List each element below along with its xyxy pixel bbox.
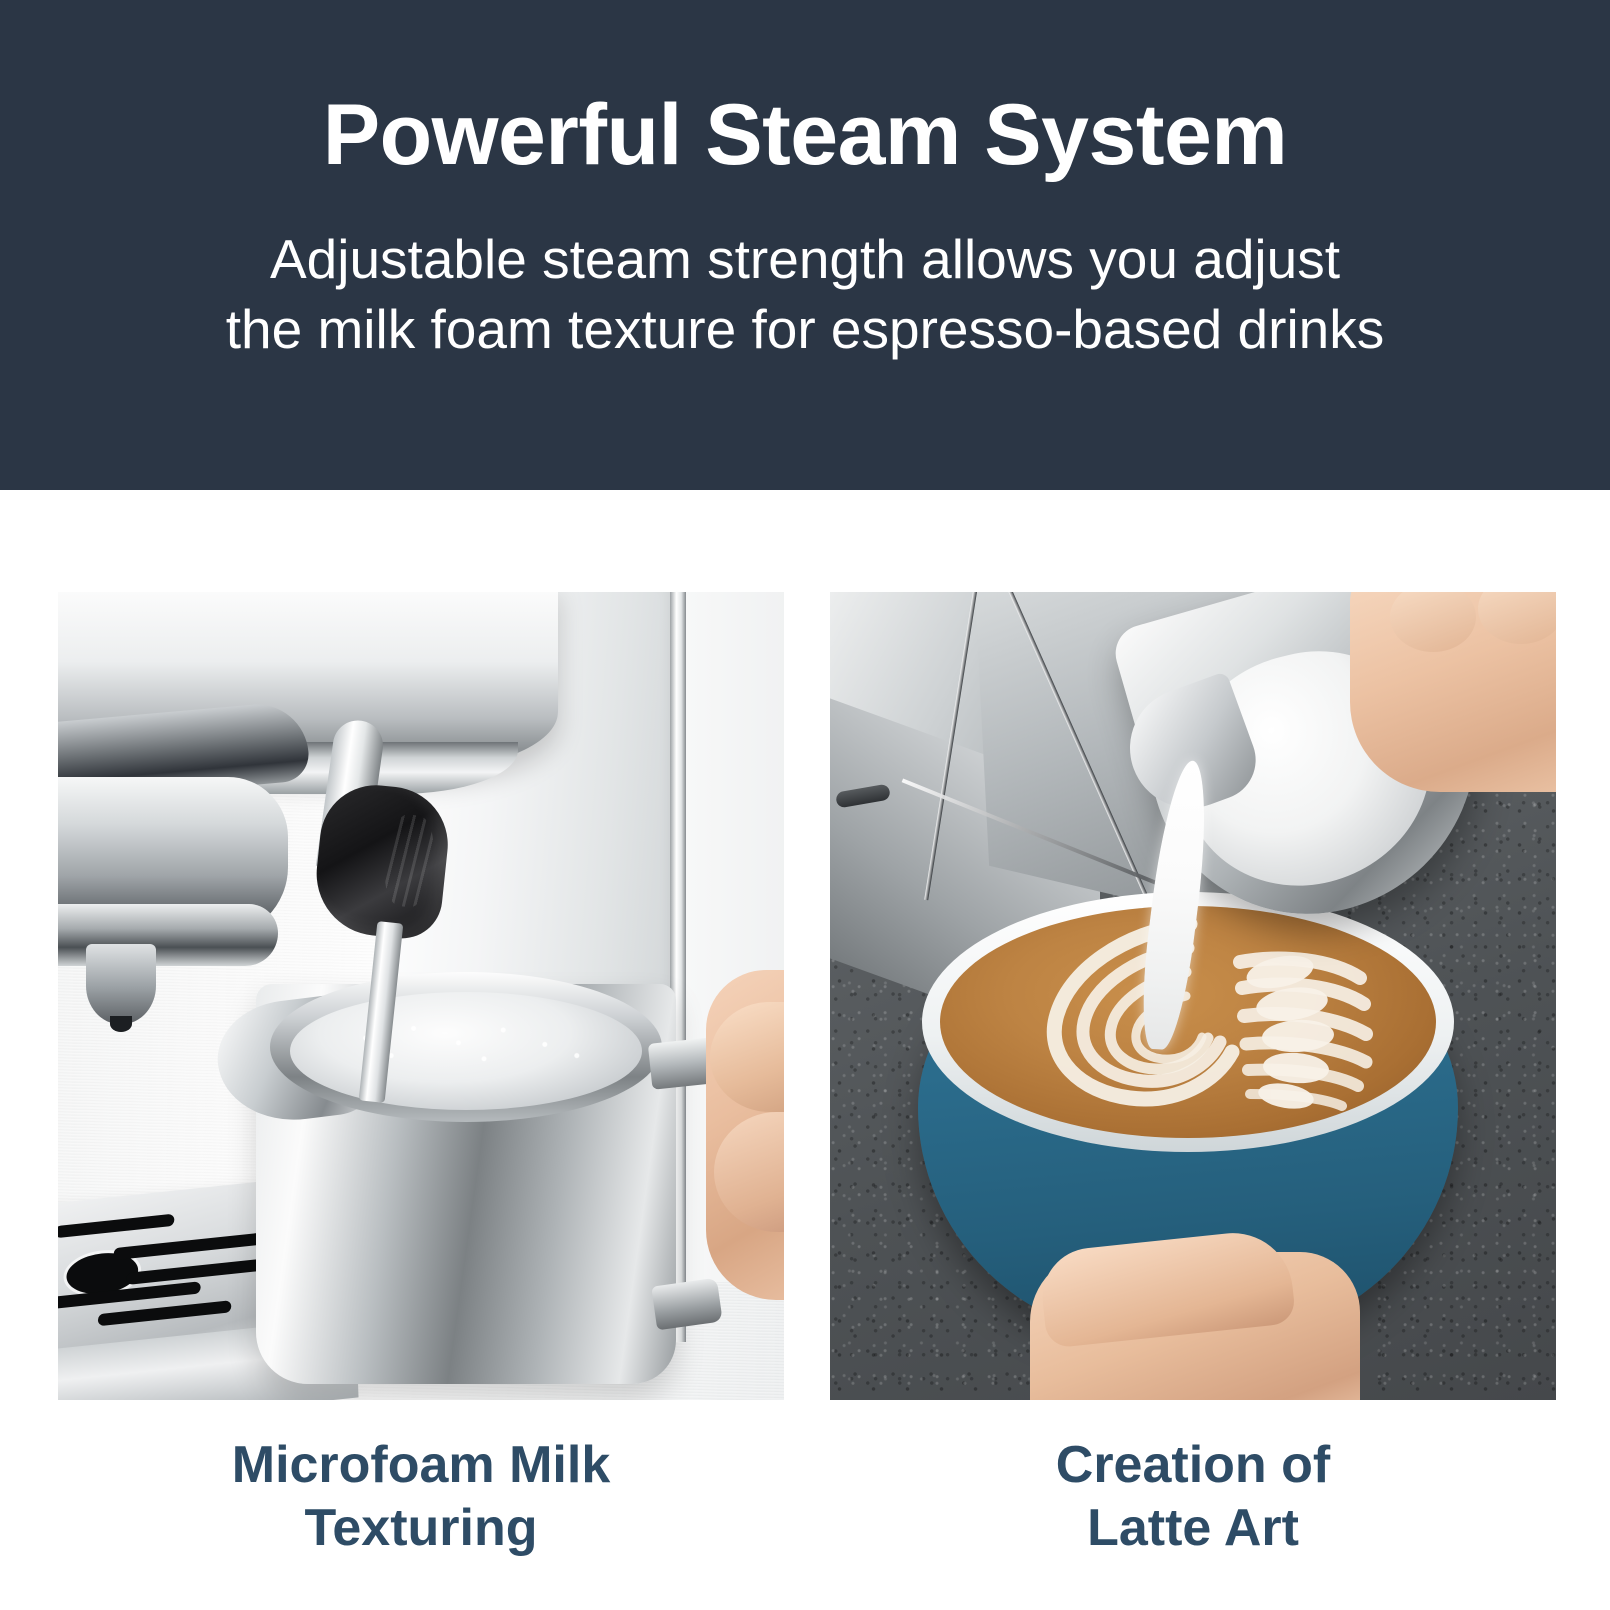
espresso-machine-scene (58, 592, 784, 1400)
caption-line-1: Creation of (830, 1434, 1556, 1497)
caption-line-2: Latte Art (830, 1497, 1556, 1560)
caption-line-2: Texturing (58, 1497, 784, 1560)
latte-art-scene (830, 592, 1556, 1400)
drip-slot (58, 1214, 175, 1239)
latte-art-photo (830, 592, 1556, 1400)
milk-pitcher-handle-lower (651, 1278, 722, 1331)
product-feature-page: Powerful Steam System Adjustable steam s… (0, 0, 1610, 1610)
portafilter-spout (86, 944, 156, 1024)
header-banner: Powerful Steam System Adjustable steam s… (0, 0, 1610, 490)
subtitle-line-2: the milk foam texture for espresso-based… (226, 294, 1385, 364)
drip-slot (98, 1300, 232, 1326)
drip-slot (113, 1233, 263, 1261)
caption-microfoam: Microfoam Milk Texturing (58, 1434, 784, 1561)
subtitle-line-1: Adjustable steam strength allows you adj… (226, 224, 1385, 294)
page-title: Powerful Steam System (323, 92, 1288, 178)
panel-captions: Microfoam Milk Texturing Creation of Lat… (0, 1400, 1610, 1610)
microfoam-photo (58, 592, 784, 1400)
milk-foam-bubbles (308, 1006, 628, 1086)
portafilter-tip (110, 1016, 132, 1032)
caption-line-1: Microfoam Milk (58, 1434, 784, 1497)
caption-latte-art: Creation of Latte Art (830, 1434, 1556, 1561)
page-subtitle: Adjustable steam strength allows you adj… (226, 224, 1385, 365)
